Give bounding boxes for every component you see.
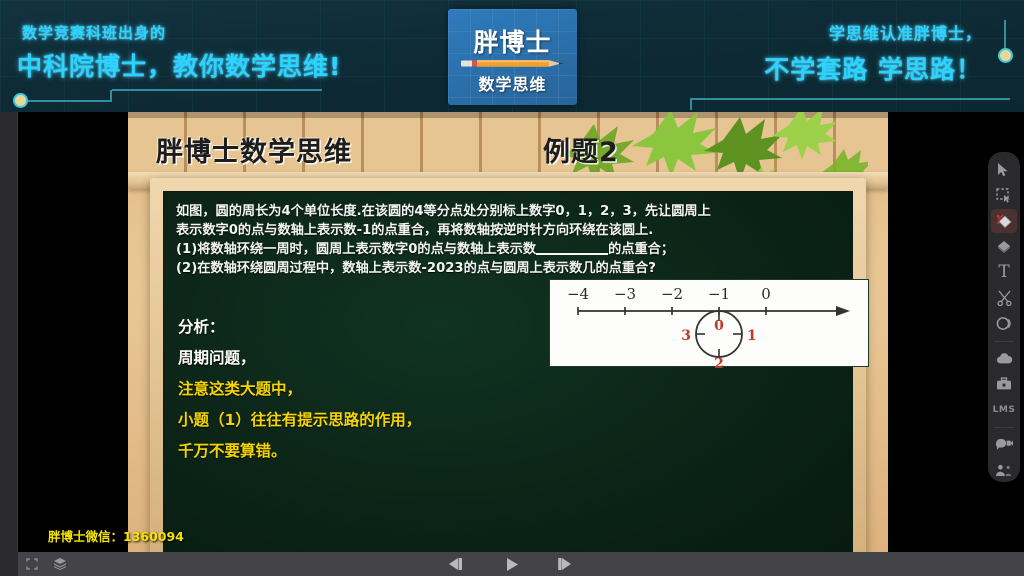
banner-deco-line-left-top — [112, 89, 322, 91]
problem-line-3-text-a: (1)将数轴环绕一周时，圆周上表示数字0的点与数轴上表示数 — [176, 242, 536, 257]
tick-label-3: −1 — [708, 285, 730, 303]
banner-deco-line-right-bottom — [690, 98, 1010, 100]
banner-deco-node-right — [998, 48, 1013, 63]
banner-left-line-2: 中科院博士，教你数学思维! — [17, 47, 341, 83]
axis-tick-labels: −4 −3 −2 −1 0 — [567, 285, 771, 303]
banner-deco-line-right-riser — [690, 98, 692, 110]
figure-svg: −4 −3 −2 −1 0 — [550, 280, 870, 368]
shape-icon[interactable] — [991, 312, 1017, 336]
analysis-line-3: 小题（1）往往有提示思路的作用， — [178, 405, 421, 436]
cursor-icon[interactable] — [991, 158, 1017, 182]
problem-statement: 如图，圆的周长为4个单位长度.在该圆的4等分点处分别标上数字0，1，2，3，先让… — [176, 202, 842, 278]
analysis-heading: 分析： — [178, 312, 421, 343]
circle-label-top: 0 — [714, 318, 724, 334]
fill-in-blank — [536, 253, 608, 255]
axis-arrow-icon — [836, 306, 850, 316]
previous-button[interactable] — [445, 557, 467, 571]
lesson-label: 例题2 — [543, 130, 619, 169]
banner-deco-line-left — [20, 100, 112, 102]
problem-line-2: 表示数字0的点与数轴上表示数-1的点重合，再将数轴按逆时针方向环绕在该圆上. — [176, 221, 842, 240]
banner-right-line-1: 学思维认准胖博士， — [829, 20, 982, 44]
next-button[interactable] — [557, 557, 579, 571]
fill-brush-icon[interactable] — [991, 209, 1017, 233]
logo-title: 胖博士 — [448, 23, 577, 59]
eraser-icon[interactable] — [991, 235, 1017, 259]
screen-root: 数学竞赛科班出身的 中科院博士，教你数学思维! 学思维认准胖博士， 不学套路 学… — [0, 0, 1024, 576]
banner-deco-line-right — [1004, 20, 1006, 50]
cloud-icon[interactable] — [991, 347, 1017, 371]
top-banner: 数学竞赛科班出身的 中科院博士，教你数学思维! 学思维认准胖博士， 不学套路 学… — [0, 0, 1024, 112]
number-line-circle-figure: −4 −3 −2 −1 0 — [549, 279, 869, 367]
analysis-line-1: 周期问题， — [178, 343, 421, 374]
problem-line-3-text-b: 的点重合； — [608, 242, 674, 257]
marquee-select-icon[interactable] — [991, 184, 1017, 208]
toolbar-divider-2 — [994, 427, 1014, 428]
scissors-icon[interactable] — [991, 286, 1017, 310]
banner-right-line-2: 不学套路 学思路！ — [764, 50, 982, 86]
annotation-toolbar[interactable]: T — [988, 152, 1020, 482]
analysis-block: 分析： 周期问题， 注意这类大题中， 小题（1）往往有提示思路的作用， 千万不要… — [178, 312, 421, 467]
blackboard-frame: 如图，圆的周长为4个单位长度.在该圆的4等分点处分别标上数字0，1，2，3，先让… — [150, 178, 866, 552]
analysis-line-4: 千万不要算错。 — [178, 436, 421, 467]
banner-deco-node-left — [13, 93, 28, 108]
banner-deco-line-left-riser — [110, 90, 112, 102]
problem-line-1: 如图，圆的周长为4个单位长度.在该圆的4等分点处分别标上数字0，1，2，3，先让… — [176, 202, 842, 221]
wechat-watermark: 胖博士微信：1360094 — [48, 526, 184, 545]
logo-subtitle: 数学思维 — [448, 71, 577, 95]
lms-icon[interactable]: LMS — [991, 398, 1017, 422]
left-edge-strip — [0, 112, 18, 576]
presentation-stage: 胖博士数学思维 例题2 如图，圆的周长为4个单位长度.在该圆的4等分点处分别标上… — [18, 112, 1024, 552]
pencil-icon — [461, 59, 564, 68]
circle-labels: 0 1 2 3 — [681, 318, 757, 368]
circle-label-right: 1 — [747, 328, 757, 344]
play-button[interactable] — [503, 557, 521, 572]
tick-label-2: −2 — [661, 285, 683, 303]
circle-label-bottom: 2 — [714, 356, 724, 368]
playback-controls[interactable] — [0, 552, 1024, 576]
page-title: 胖博士数学思维 — [156, 130, 352, 169]
chat-icon[interactable] — [991, 433, 1017, 457]
analysis-line-2: 注意这类大题中， — [178, 374, 421, 405]
toolbar-divider-1 — [994, 341, 1014, 342]
participants-icon[interactable] — [991, 458, 1017, 482]
problem-line-3: (1)将数轴环绕一周时，圆周上表示数字0的点与数轴上表示数的点重合； — [176, 240, 842, 259]
blackboard-surface: 如图，圆的周长为4个单位长度.在该圆的4等分点处分别标上数字0，1，2，3，先让… — [163, 191, 853, 552]
brand-logo: 胖博士 数学思维 — [448, 9, 577, 105]
playback-bar — [0, 552, 1024, 576]
tick-label-4: 0 — [761, 285, 771, 303]
toolbox-icon[interactable] — [991, 372, 1017, 396]
classroom-scene: 胖博士数学思维 例题2 如图，圆的周长为4个单位长度.在该圆的4等分点处分别标上… — [128, 112, 888, 552]
text-icon[interactable]: T — [991, 261, 1017, 285]
tick-label-0: −4 — [567, 285, 589, 303]
lms-label: LMS — [993, 405, 1016, 415]
circle-label-left: 3 — [681, 328, 691, 344]
banner-left-line-1: 数学竞赛科班出身的 — [22, 22, 166, 43]
problem-line-4: (2)在数轴环绕圆周过程中，数轴上表示数-2023的点与圆周上表示数几的点重合? — [176, 259, 842, 278]
tick-label-1: −3 — [614, 285, 636, 303]
